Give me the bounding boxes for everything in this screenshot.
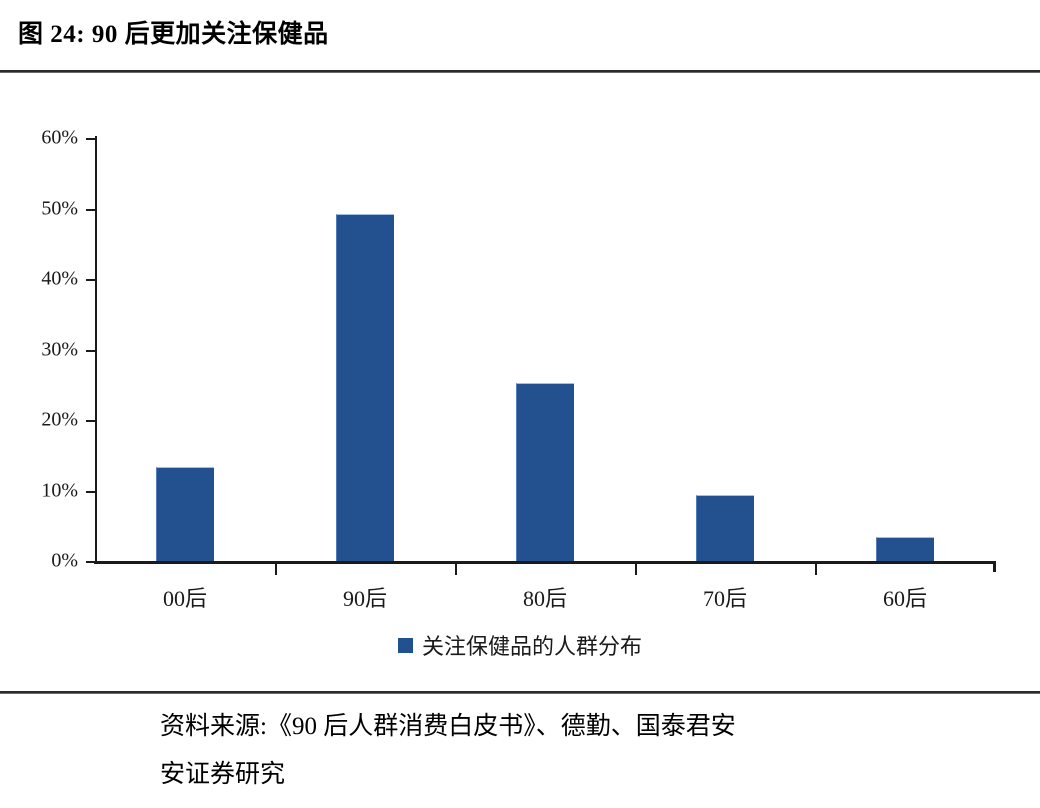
x-axis-label-60后: 60后 <box>815 581 995 613</box>
footer-divider <box>0 691 1040 694</box>
y-axis-tick <box>86 279 95 281</box>
y-axis-tick <box>86 350 95 352</box>
plot-area <box>95 138 995 561</box>
page-title: 图 24: 90 后更加关注保健品 <box>18 14 329 50</box>
bar-80后 <box>516 383 574 561</box>
y-axis-tick-label: 30% <box>41 338 78 361</box>
y-axis-tick-label: 50% <box>41 197 78 220</box>
bar-chart: 0%10%20%30%40%50%60% 00后90后80后70后60后 关注保… <box>0 76 1040 688</box>
bar-70后 <box>696 495 754 561</box>
x-axis-tick <box>455 563 457 575</box>
y-axis-tick-label: 20% <box>41 409 78 432</box>
source-note: 资料来源:《90 后人群消费白皮书》、德勤、国泰君安 安证券研究 <box>160 703 1040 799</box>
legend-label: 关注保健品的人群分布 <box>422 629 642 661</box>
y-axis-tick <box>86 138 95 140</box>
x-axis-label-80后: 80后 <box>455 581 635 613</box>
y-axis-tick-label: 10% <box>41 479 78 502</box>
x-axis-line <box>94 561 995 564</box>
y-axis-tick-label: 40% <box>41 268 78 291</box>
bar-00后 <box>156 467 214 561</box>
legend-swatch-icon <box>398 638 413 653</box>
bar-60后 <box>876 537 934 561</box>
x-axis-end-cap <box>993 561 996 572</box>
y-axis-tick <box>86 420 95 422</box>
y-axis-tick-label: 60% <box>41 127 78 150</box>
y-axis-tick-label: 0% <box>51 550 78 573</box>
header-divider <box>0 70 1040 73</box>
x-axis-label-90后: 90后 <box>275 581 455 613</box>
x-axis-tick <box>275 563 277 575</box>
source-line-1: 资料来源:《90 后人群消费白皮书》、德勤、国泰君安 <box>160 703 1040 751</box>
bar-90后 <box>336 214 394 561</box>
x-axis-label-00后: 00后 <box>95 581 275 613</box>
chart-legend: 关注保健品的人群分布 <box>0 629 1040 661</box>
source-line-2: 安证券研究 <box>160 751 1040 799</box>
y-axis-tick <box>86 491 95 493</box>
x-axis-label-70后: 70后 <box>635 581 815 613</box>
y-axis-tick <box>86 209 95 211</box>
y-axis-tick <box>86 561 95 563</box>
x-axis-tick <box>635 563 637 575</box>
x-axis-tick <box>815 563 817 575</box>
